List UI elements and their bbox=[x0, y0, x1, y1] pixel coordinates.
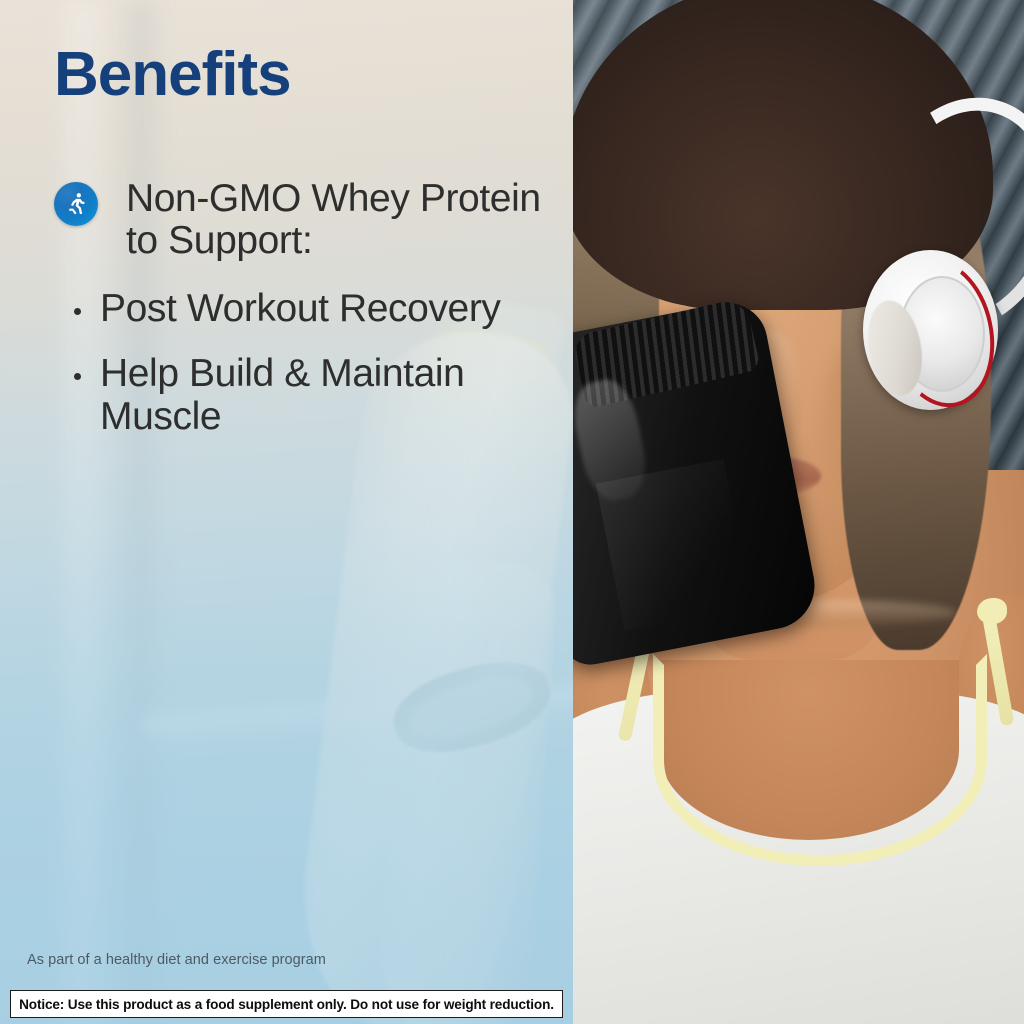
tank-strap-knot-right bbox=[977, 598, 1007, 624]
benefit-block: Non-GMO Whey Protein to Support: Post Wo… bbox=[54, 178, 564, 439]
benefit-headline-row: Non-GMO Whey Protein to Support: bbox=[54, 178, 564, 262]
benefit-headline: Non-GMO Whey Protein to Support: bbox=[126, 178, 564, 262]
notice-text: Notice: Use this product as a food suppl… bbox=[19, 997, 554, 1012]
footnote-disclaimer: As part of a healthy diet and exercise p… bbox=[27, 952, 326, 968]
list-item-label: Post Workout Recovery bbox=[100, 287, 501, 330]
notice-bar: Notice: Use this product as a food suppl… bbox=[10, 990, 563, 1018]
benefit-bullet-list: Post Workout Recovery Help Build & Maint… bbox=[54, 288, 564, 439]
product-benefits-graphic: Benefits Non-GMO Whey Protein to Support… bbox=[0, 0, 1024, 1024]
page-title: Benefits bbox=[54, 44, 291, 106]
list-item: Post Workout Recovery bbox=[54, 288, 530, 331]
lifestyle-photo bbox=[573, 0, 1024, 1024]
tank-top-yellow-trim bbox=[653, 654, 987, 866]
bullet-dot-icon bbox=[74, 308, 81, 315]
panel-content: Benefits Non-GMO Whey Protein to Support… bbox=[0, 0, 573, 1024]
list-item: Help Build & Maintain Muscle bbox=[54, 353, 530, 439]
shaker-bottle-facet bbox=[596, 459, 752, 631]
running-person-icon bbox=[54, 182, 98, 226]
list-item-label: Help Build & Maintain Muscle bbox=[100, 352, 464, 438]
bullet-dot-icon bbox=[74, 373, 81, 380]
